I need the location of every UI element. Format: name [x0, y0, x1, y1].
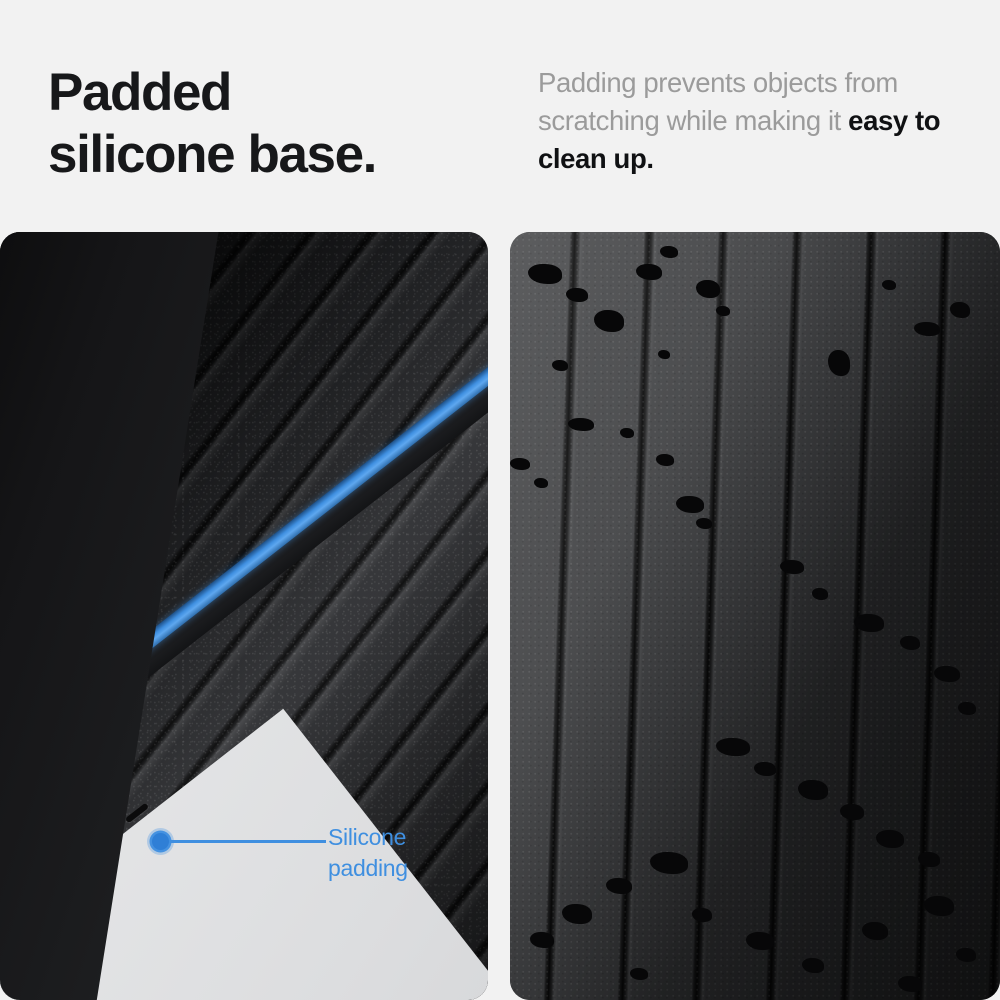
- debris-speck: [918, 852, 940, 867]
- debris-speck: [754, 762, 776, 776]
- subcopy-muted-text: Padding prevents objects from scratching…: [538, 67, 898, 136]
- debris-speck: [802, 958, 824, 973]
- debris-speck: [882, 280, 896, 290]
- debris-speck: [658, 350, 670, 359]
- debris-speck: [900, 636, 920, 650]
- debris-speck: [862, 922, 888, 940]
- debris-speck: [828, 350, 850, 376]
- debris-speck: [534, 478, 548, 488]
- debris-speck: [530, 932, 554, 948]
- callout-marker-dot: [152, 833, 169, 850]
- debris-speck: [510, 458, 530, 470]
- debris-speck: [780, 560, 804, 574]
- debris-speck: [660, 246, 678, 258]
- debris-speck: [898, 976, 922, 992]
- debris-speck: [606, 878, 632, 894]
- callout-label-silicone-padding: Silicone padding: [328, 822, 498, 884]
- debris-speck: [630, 968, 648, 980]
- debris-speck: [552, 360, 568, 371]
- debris-speck: [568, 418, 594, 431]
- product-photo-right: [510, 232, 1000, 1000]
- debris-speck: [636, 264, 662, 280]
- debris-speck: [950, 302, 970, 318]
- debris-speck: [840, 804, 864, 820]
- debris-speck: [696, 518, 712, 529]
- callout-leader-line: [168, 840, 326, 843]
- debris-speck: [716, 306, 730, 316]
- debris-speck: [656, 454, 674, 466]
- photo-left-content: [0, 232, 488, 1000]
- debris-speck: [956, 948, 976, 962]
- lighting-gradient: [510, 232, 1000, 1000]
- photo-right-content: [510, 232, 1000, 1000]
- subcopy-paragraph: Padding prevents objects from scratching…: [538, 64, 978, 178]
- product-feature-page: Padded silicone base. Padding prevents o…: [0, 0, 1000, 1000]
- debris-speck: [914, 322, 940, 336]
- debris-speck: [566, 288, 588, 302]
- debris-speck: [958, 702, 976, 715]
- debris-speck: [696, 280, 720, 298]
- page-title: Padded silicone base.: [48, 62, 488, 186]
- debris-speck: [934, 666, 960, 682]
- debris-speck: [620, 428, 634, 438]
- debris-speck: [812, 588, 828, 600]
- debris-speck: [692, 908, 712, 922]
- product-photo-left: [0, 232, 488, 1000]
